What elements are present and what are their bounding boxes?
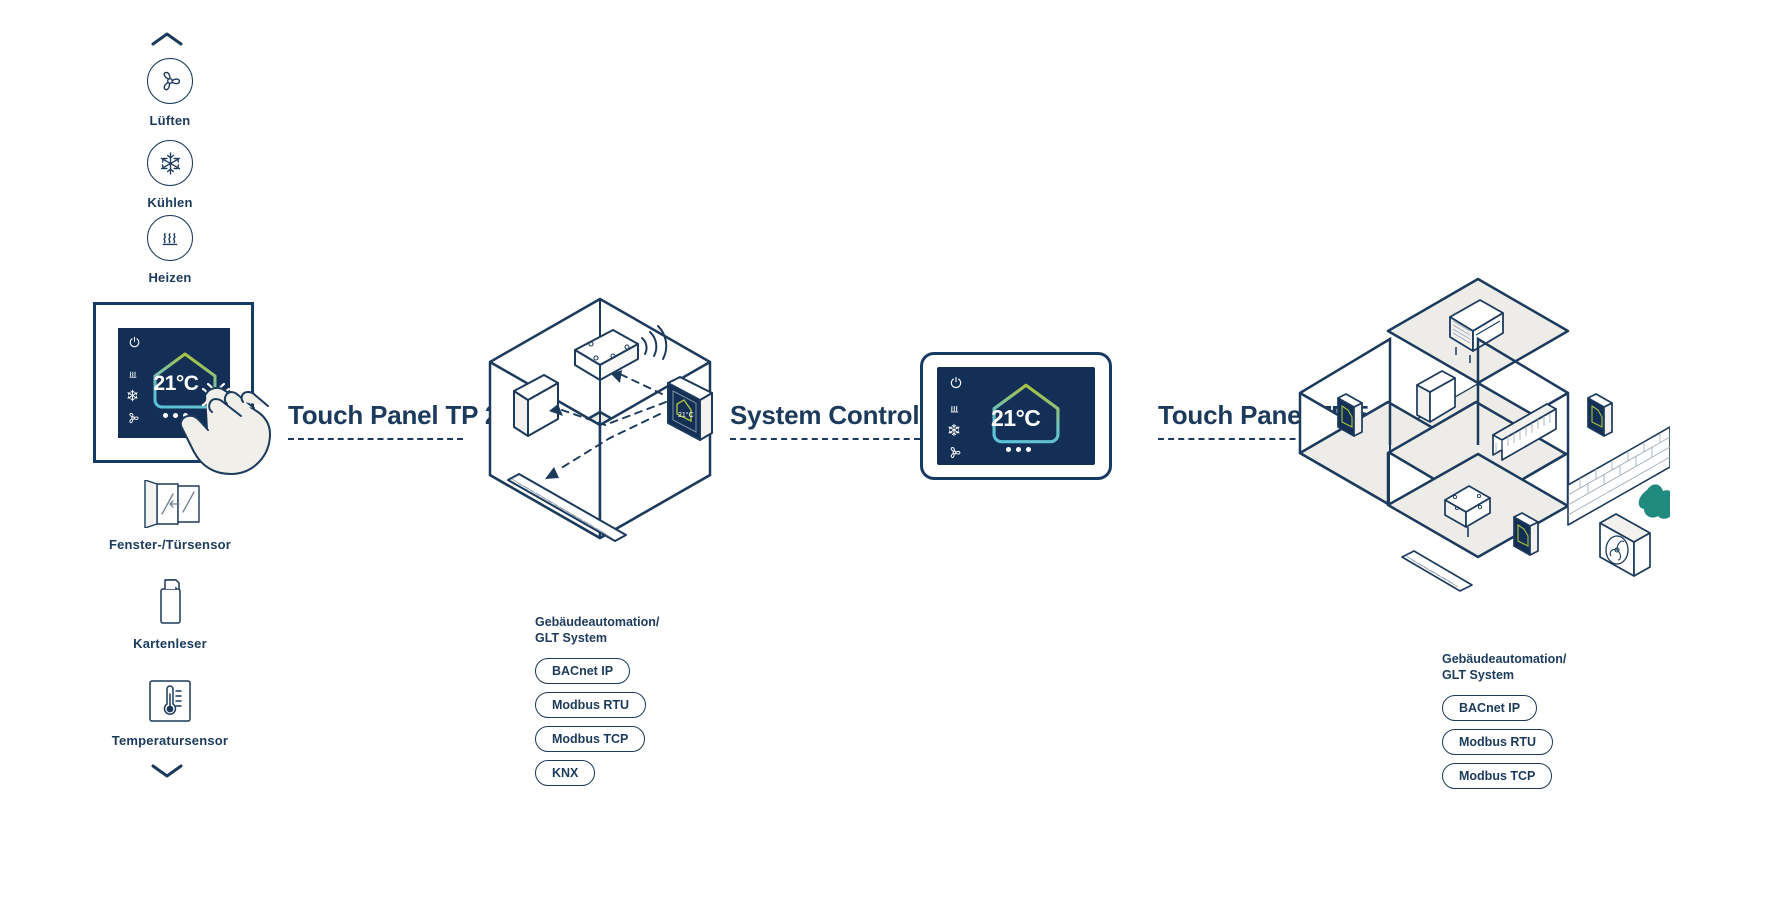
wall-touch-panel-left xyxy=(1338,394,1362,436)
tp5-frame: 21°C xyxy=(920,352,1112,480)
section-title-text: System Controller xyxy=(730,400,920,431)
fan-icon[interactable] xyxy=(947,445,962,460)
wall-touch-panel-right xyxy=(1588,394,1612,436)
chevron-up-icon xyxy=(150,30,184,48)
snowflake-icon-circle xyxy=(147,140,193,186)
sidebar-item-heizen[interactable]: Heizen xyxy=(95,215,245,285)
more-dots-icon[interactable] xyxy=(1006,447,1031,452)
sidebar-item-luften[interactable]: Lüften xyxy=(95,58,245,128)
section-title-tp2: Touch Panel TP 2 xyxy=(288,400,463,440)
chevron-down-icon xyxy=(150,762,184,780)
protocol-badge[interactable]: Modbus RTU xyxy=(1442,729,1553,755)
sidebar-scroll-up[interactable] xyxy=(150,30,184,53)
sidebar-scroll-down[interactable] xyxy=(150,762,184,785)
heat-waves-icon[interactable] xyxy=(126,368,140,380)
touch-panel-tp5[interactable]: 21°C xyxy=(920,352,1112,480)
snowflake-icon[interactable] xyxy=(947,423,961,437)
heat-waves-icon xyxy=(157,225,183,251)
sidebar-item-label: Temperatursensor xyxy=(112,733,228,748)
glt-center: Gebäudeautomation/ GLT System BACnet IP … xyxy=(535,615,659,794)
section-title-text: Touch Panel TP 2 xyxy=(288,400,463,431)
protocol-badge[interactable]: Modbus TCP xyxy=(1442,763,1552,789)
sidebar-item-label: Kühlen xyxy=(147,195,192,210)
outdoor-heat-pump xyxy=(1600,514,1650,576)
sidebar-item-label: Kartenleser xyxy=(133,636,207,651)
fan-icon xyxy=(157,68,183,94)
wall-touch-panel-center xyxy=(1514,513,1538,555)
touch-panel-tp2[interactable]: 21°C xyxy=(93,302,254,463)
power-icon[interactable] xyxy=(128,336,141,349)
floor-grille xyxy=(1402,551,1472,591)
glt-right-badges: BACnet IP Modbus RTU Modbus TCP xyxy=(1442,695,1566,797)
tree-shrub xyxy=(1639,484,1670,518)
fan-icon-circle xyxy=(147,58,193,104)
window-door-sensor-icon xyxy=(137,480,203,528)
protocol-badge[interactable]: KNX xyxy=(535,760,595,786)
snowflake-icon[interactable] xyxy=(126,389,139,402)
hand-pointer-icon xyxy=(181,372,291,490)
tp5-temperature: 21°C xyxy=(991,405,1040,432)
glt-center-badges: BACnet IP Modbus RTU Modbus TCP KNX xyxy=(535,658,659,794)
heat-waves-icon[interactable] xyxy=(947,402,962,415)
power-icon[interactable] xyxy=(949,376,963,390)
multi-room-isometric xyxy=(1290,275,1670,625)
glt-center-title: Gebäudeautomation/ GLT System xyxy=(535,615,659,646)
heat-waves-icon-circle xyxy=(147,215,193,261)
ceiling-sensor-box xyxy=(575,330,638,380)
glt-right: Gebäudeautomation/ GLT System BACnet IP … xyxy=(1442,652,1566,797)
glt-right-title: Gebäudeautomation/ GLT System xyxy=(1442,652,1566,683)
protocol-badge[interactable]: Modbus TCP xyxy=(535,726,645,752)
sidebar-item-temperatursensor[interactable]: Temperatursensor xyxy=(95,678,245,748)
sidebar-item-fenster-tursensor[interactable]: Fenster-/Türsensor xyxy=(95,480,245,552)
card-reader-icon xyxy=(150,575,190,627)
tp2-mode-icons xyxy=(126,368,140,425)
section-title-controller: System Controller xyxy=(730,400,920,440)
tp5-mode-icons xyxy=(947,402,962,460)
sidebar-item-kartenleser[interactable]: Kartenleser xyxy=(95,575,245,651)
protocol-badge[interactable]: BACnet IP xyxy=(535,658,630,684)
snowflake-icon xyxy=(158,151,183,176)
title-dashed-rule xyxy=(288,438,463,440)
thermometer-icon xyxy=(147,678,193,724)
sidebar-item-kuhlen[interactable]: Kühlen xyxy=(95,140,245,210)
sidebar-item-label: Fenster-/Türsensor xyxy=(109,537,231,552)
tp5-screen[interactable]: 21°C xyxy=(937,367,1095,465)
protocol-badge[interactable]: Modbus RTU xyxy=(535,692,646,718)
protocol-badge[interactable]: BACnet IP xyxy=(1442,695,1537,721)
title-dashed-rule xyxy=(730,438,920,440)
sidebar-item-label: Lüften xyxy=(150,113,191,128)
single-room-isometric: 21°C xyxy=(470,290,740,555)
sidebar-item-label: Heizen xyxy=(148,270,191,285)
fan-icon[interactable] xyxy=(126,411,140,425)
room-panel-temperature: 21°C xyxy=(678,411,694,419)
